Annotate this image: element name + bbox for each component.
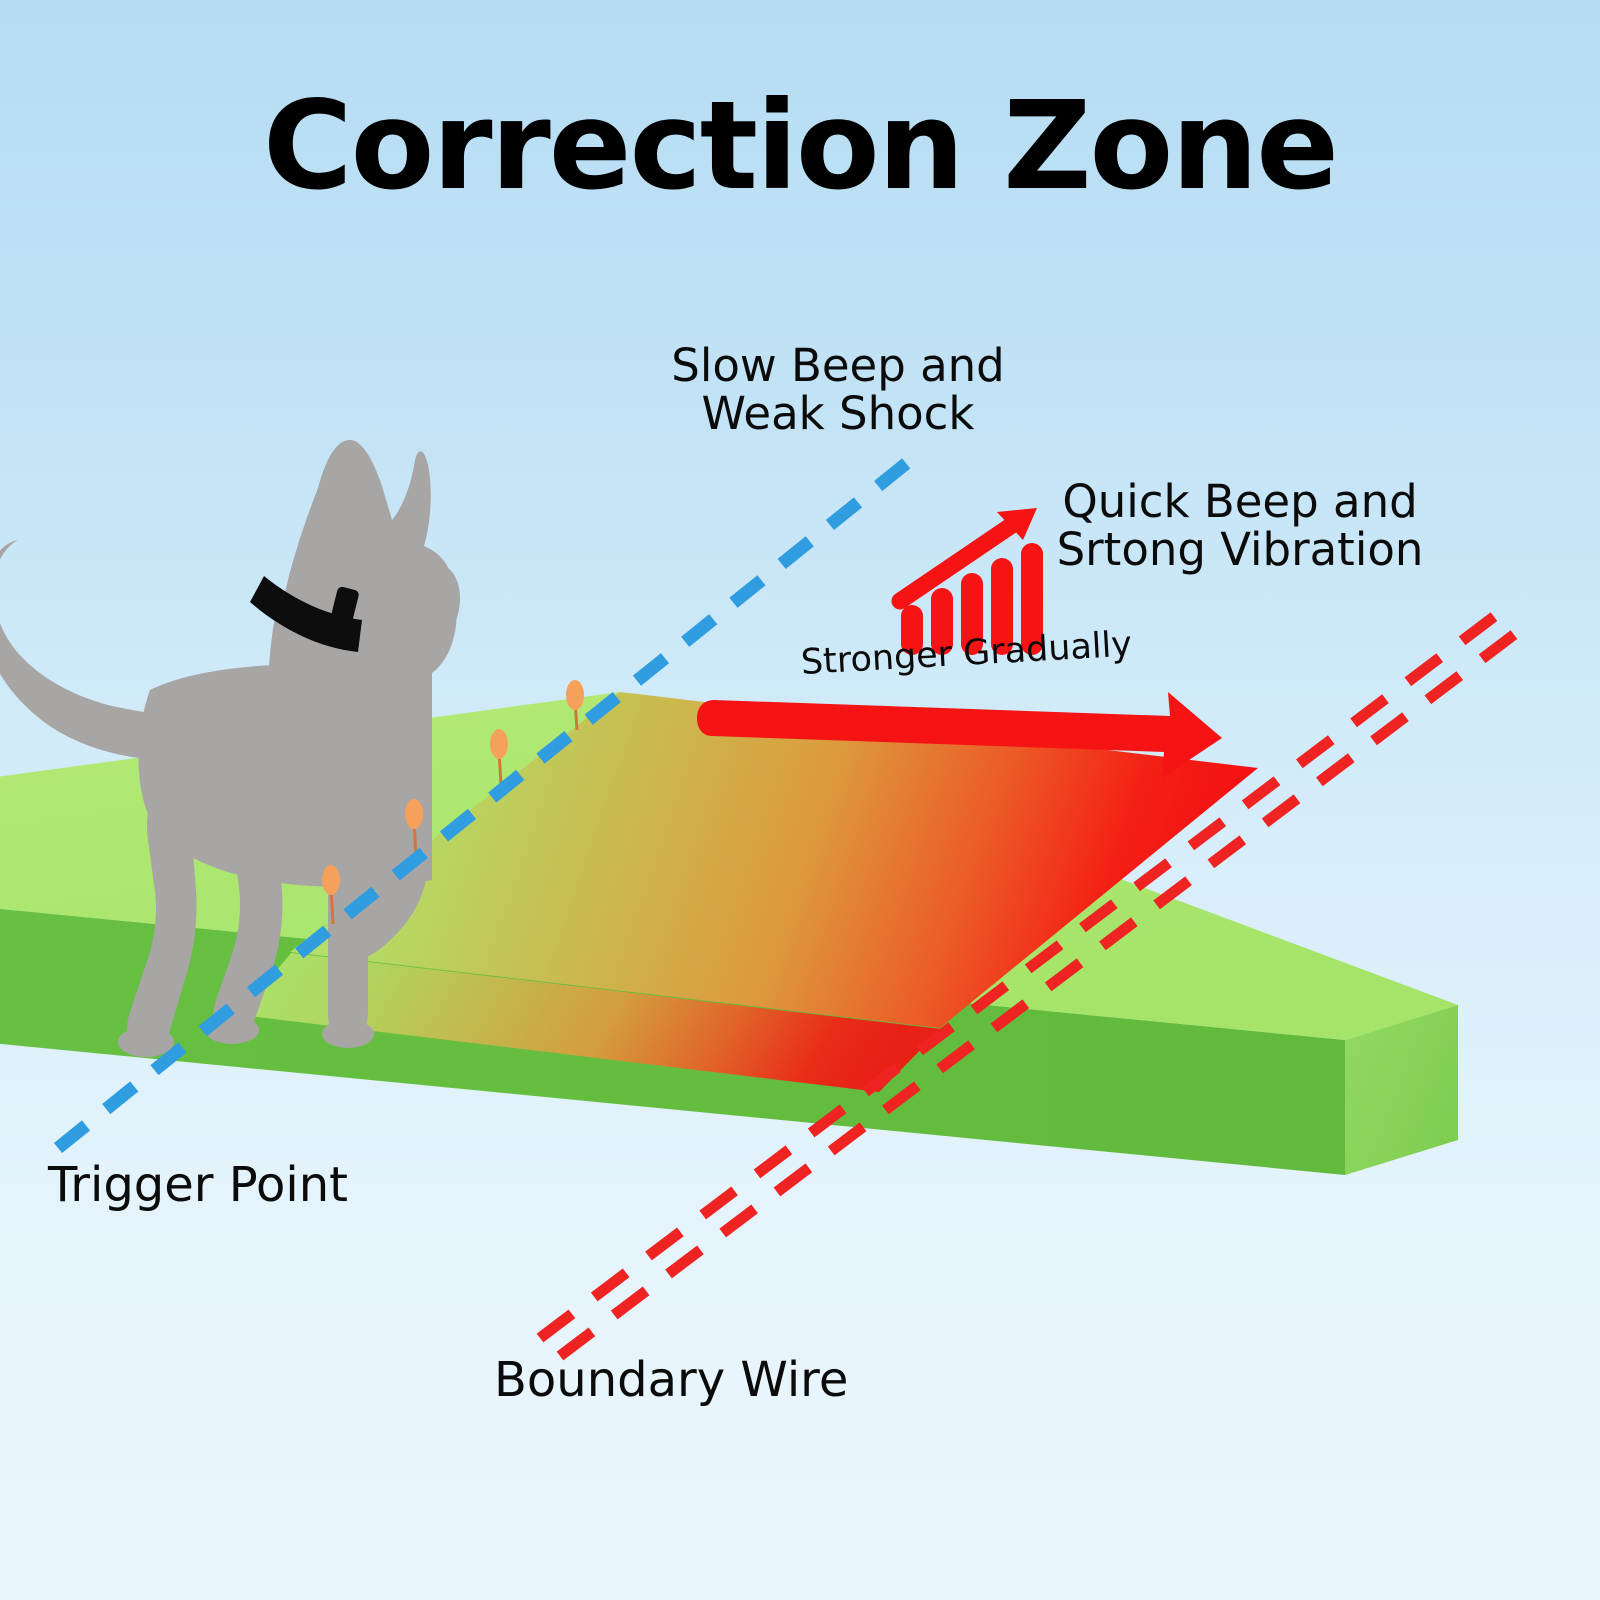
label-quick-beep-strong-vibration: Quick Beep and Srtong Vibration [1038,478,1442,573]
label-boundary-wire: Boundary Wire [494,1355,848,1406]
label-slow-beep-weak-shock: Slow Beep and Weak Shock [648,342,1028,437]
page-title: Correction Zone [0,82,1600,211]
label-trigger-point: Trigger Point [48,1160,348,1211]
infographic-canvas: Correction Zone Slow Beep and Weak Shock… [0,0,1600,1600]
